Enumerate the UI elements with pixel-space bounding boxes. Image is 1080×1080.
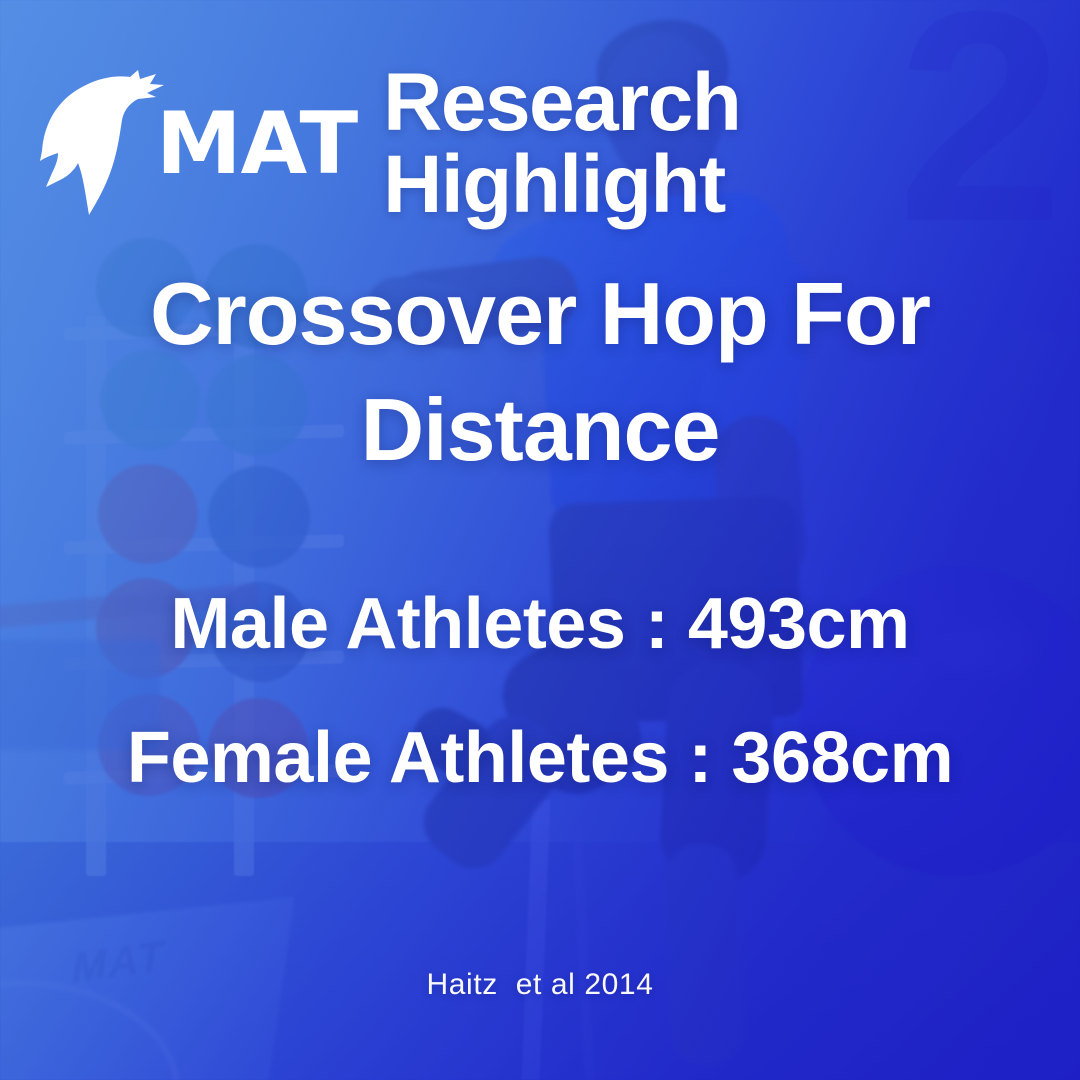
logo-wordmark: MAT xyxy=(156,101,357,187)
stat-female: Female Athletes : 368cm xyxy=(0,722,1080,794)
page-title: Crossover Hop For Distance xyxy=(0,256,1080,488)
panther-head-icon xyxy=(34,63,166,215)
stats-block: Male Athletes : 493cm Female Athletes : … xyxy=(0,588,1080,794)
header-title: Research Highlight xyxy=(383,62,1080,226)
stat-male: Male Athletes : 493cm xyxy=(0,588,1080,660)
research-highlight-card: 2 MAT xyxy=(0,0,1080,1080)
card-content: MAT Research Highlight Crossover Hop For… xyxy=(0,0,1080,1080)
citation: Haitz et al 2014 xyxy=(0,968,1080,1002)
header-row: MAT Research Highlight xyxy=(34,52,1080,226)
